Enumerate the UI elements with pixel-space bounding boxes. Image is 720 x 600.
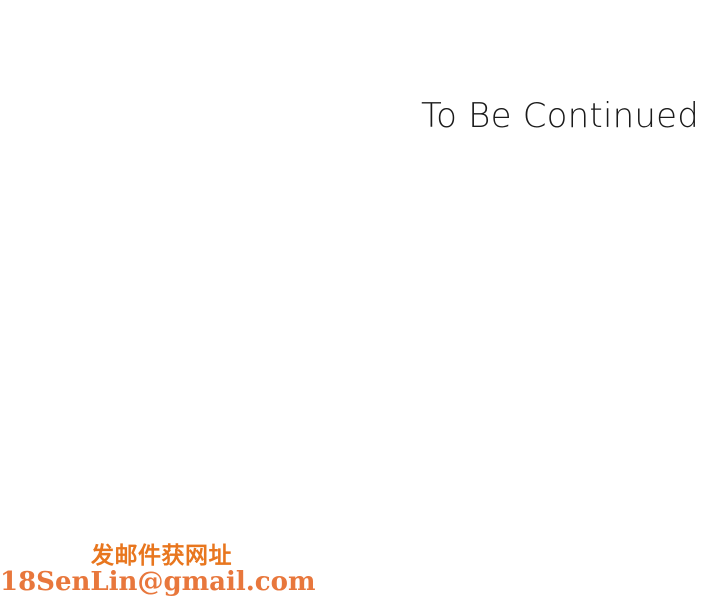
end-card-title-block: To Be Continued	[0, 96, 699, 136]
page-title: To Be Continued	[421, 96, 699, 136]
watermark-email-address: 18SenLin@gmail.com	[0, 569, 232, 596]
slide-canvas: To Be Continued 发邮件获网址 18SenLin@gmail.co…	[0, 0, 720, 600]
watermark-block: 发邮件获网址 18SenLin@gmail.com	[0, 544, 232, 596]
watermark-chinese-text: 发邮件获网址	[0, 544, 232, 569]
